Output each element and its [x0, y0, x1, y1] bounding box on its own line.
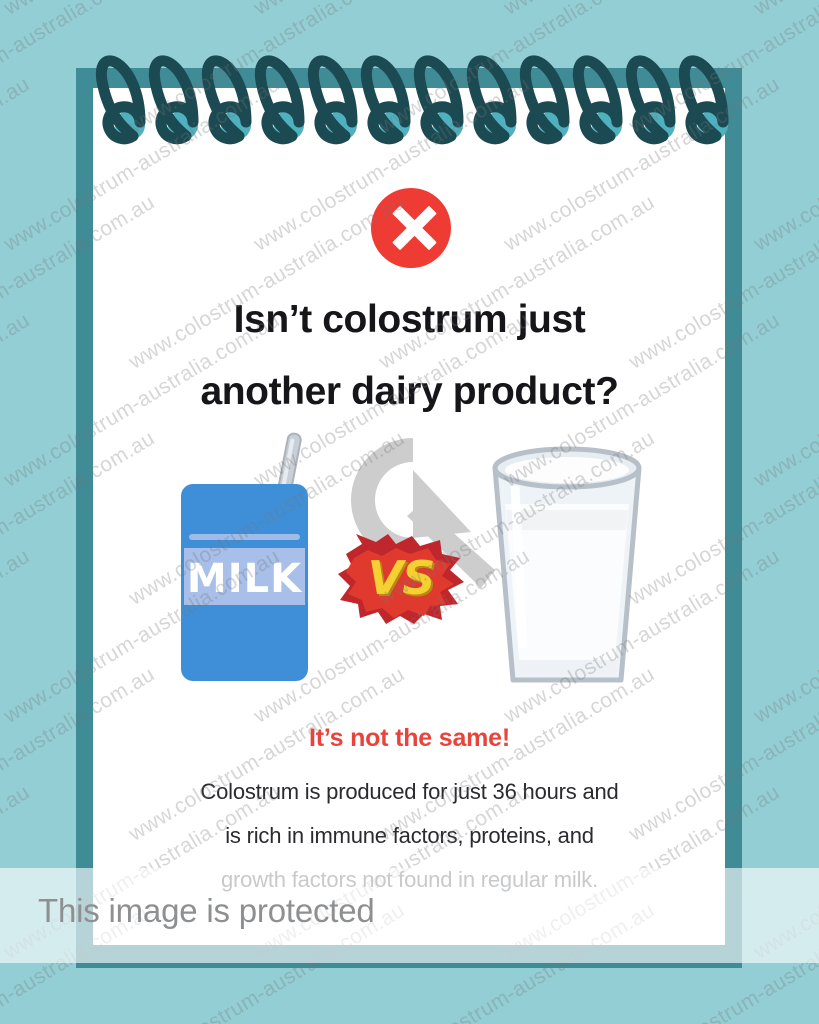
red-cross-icon — [371, 188, 451, 268]
spiral-binding-icon — [0, 0, 819, 200]
watermark-text: www.colostrum-australia.com.au — [250, 1017, 534, 1024]
carton-thin-line — [189, 534, 300, 540]
callout-body-line-2: is rich in immune factors, proteins, and — [113, 814, 706, 858]
comparison-illustration: MILK VS — [93, 420, 725, 720]
watermark-text: www.colostrum-australia.com.au — [750, 309, 819, 493]
watermark-text: www.colostrum-australia.com.au — [0, 309, 34, 493]
protection-overlay-message: This image is protected — [38, 892, 375, 930]
watermark-text: www.colostrum-australia.com.au — [0, 1017, 34, 1024]
watermark-text: www.colostrum-australia.com.au — [500, 1017, 784, 1024]
headline-line-2: another dairy product? — [113, 356, 706, 428]
watermark-text: www.colostrum-australia.com.au — [0, 545, 34, 729]
carton-label: MILK — [181, 556, 308, 602]
milk-carton-icon: MILK — [181, 484, 308, 681]
callout-emphasis: It’s not the same! — [113, 724, 706, 753]
headline-line-1: Isn’t colostrum just — [234, 298, 586, 341]
watermark-text: www.colostrum-australia.com.au — [750, 545, 819, 729]
milk-glass-icon — [485, 442, 649, 690]
watermark-text: www.colostrum-australia.com.au — [0, 1017, 284, 1024]
page-title: Isn’t colostrum just another dairy produ… — [113, 284, 706, 428]
callout-body-line-1: Colostrum is produced for just 36 hours … — [113, 770, 706, 814]
watermark-text: www.colostrum-australia.com.au — [750, 1017, 819, 1024]
versus-badge: VS — [336, 532, 466, 624]
poster-canvas: Isn’t colostrum just another dairy produ… — [0, 0, 819, 1024]
versus-label: VS — [336, 532, 466, 624]
